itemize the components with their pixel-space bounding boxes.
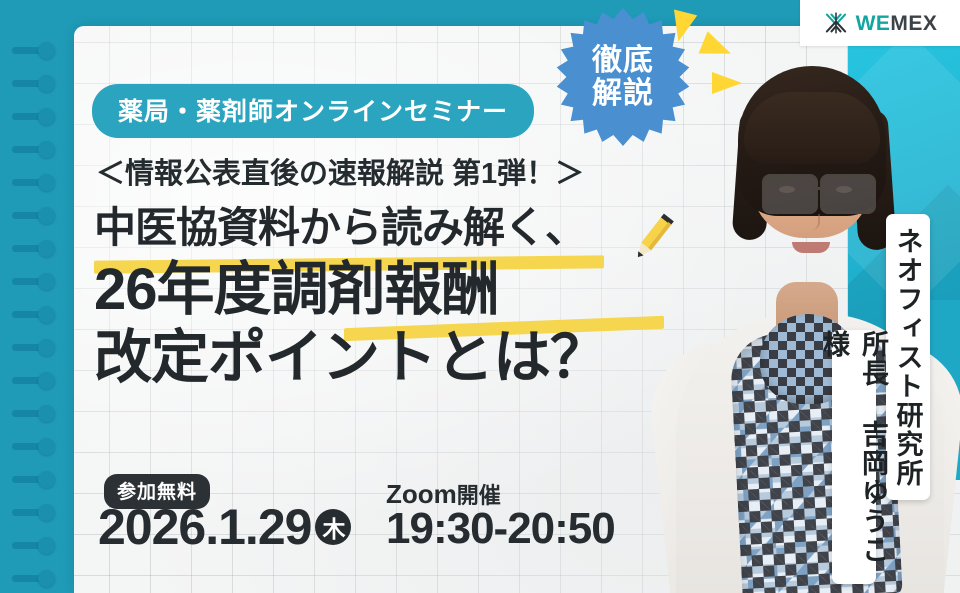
emphasis-badge: 徹底 解説: [554, 8, 692, 146]
day-of-week-badge: 木: [315, 509, 351, 545]
spiral-ring-dot: [38, 372, 55, 389]
badge-text: 徹底 解説: [554, 8, 692, 146]
spiral-ring-dot: [38, 273, 55, 290]
spiral-ring-dot: [38, 339, 55, 356]
wemex-wordmark: WEMEX: [856, 13, 938, 34]
hair-bangs: [744, 92, 880, 164]
headline-line-2: 26年度調剤報酬: [94, 257, 694, 323]
spiral-ring-dot: [38, 405, 55, 422]
logo-mex-text: MEX: [890, 12, 937, 35]
spark-right-icon: [712, 72, 742, 94]
spiral-ring-dot: [38, 174, 55, 191]
glasses-lens-left: [762, 174, 818, 214]
spiral-ring-dot: [38, 306, 55, 323]
headline-line-3: 改定ポイントとは？: [94, 325, 694, 391]
headline-line-1: 中医協資料から読み解く、: [94, 204, 694, 251]
glasses-lens-right: [820, 174, 876, 214]
spiral-ring-dot: [38, 75, 55, 92]
spiral-ring-dot: [38, 504, 55, 521]
seminar-category-pill: 薬局・薬剤師オンラインセミナー: [92, 84, 534, 138]
subtitle: ＜情報公表直後の速報解説 第1弾！＞: [96, 150, 584, 192]
spiral-ring-dot: [38, 42, 55, 59]
wemex-crossed-mark-icon: [823, 10, 849, 36]
spiral-ring-dot: [38, 207, 55, 224]
spiral-ring-dot: [38, 141, 55, 158]
event-date-text: 2026.1.29: [98, 498, 311, 556]
spiral-ring-dot: [38, 438, 55, 455]
event-date: 2026.1.29 木: [98, 498, 351, 556]
badge-line-2: 解説: [592, 78, 654, 109]
wemex-logo: WEMEX: [800, 0, 960, 46]
headline-block: 中医協資料から読み解く、 26年度調剤報酬 改定ポイントとは？: [94, 204, 694, 391]
spiral-ring-dot: [38, 570, 55, 587]
spiral-ring-dot: [38, 537, 55, 554]
event-time-range: 19:30-20:50: [386, 504, 615, 554]
logo-we-text: WE: [856, 12, 891, 35]
spiral-ring-dot: [38, 240, 55, 257]
spiral-ring-dot: [38, 108, 55, 125]
glasses-bridge: [812, 187, 822, 190]
badge-line-1: 徹底: [592, 45, 654, 76]
mouth: [792, 242, 830, 253]
spiral-ring-dot: [38, 471, 55, 488]
spiral-binding: [0, 0, 76, 593]
seminar-banner: WEMEX 徹底 解説 薬局・薬剤師オンラインセミナー ＜情報公表直後の速報解説…: [0, 0, 960, 593]
speaker-name-plate: 所長 吉岡ゆうこ様: [832, 330, 876, 584]
